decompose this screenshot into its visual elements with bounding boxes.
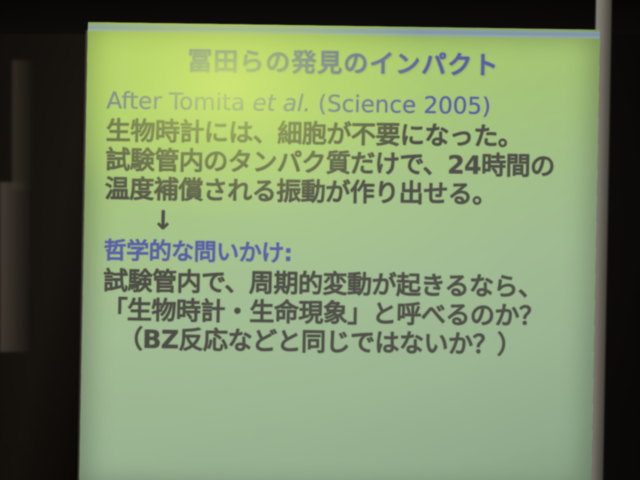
reference-post: (Science 2005) bbox=[310, 91, 491, 120]
down-arrow-icon: ↓ bbox=[104, 207, 584, 241]
wall-moulding bbox=[0, 182, 30, 352]
body-line-3: 温度補償される振動が作り出せる。 bbox=[105, 176, 585, 208]
presentation-slide: 冨田らの発見のインパクト After Tomita et al. (Scienc… bbox=[79, 22, 600, 480]
question-heading: 哲学的な問いかけ: bbox=[103, 241, 583, 271]
slide-title: 冨田らの発見のインパクト bbox=[87, 40, 600, 84]
wall-moulding-upper bbox=[12, 60, 34, 190]
reference-pre: After Tomita bbox=[106, 88, 252, 116]
projector-photo: 冨田らの発見のインパクト After Tomita et al. (Scienc… bbox=[0, 0, 640, 480]
slide-content: 冨田らの発見のインパクト After Tomita et al. (Scienc… bbox=[79, 22, 600, 480]
slide-body: After Tomita et al. (Science 2005) 生物時計に… bbox=[102, 90, 587, 362]
reference-etal: et al. bbox=[252, 90, 311, 117]
question-line-3: （BZ反応などと同じではないか？） bbox=[102, 327, 582, 359]
reference-line: After Tomita et al. (Science 2005) bbox=[106, 90, 586, 120]
